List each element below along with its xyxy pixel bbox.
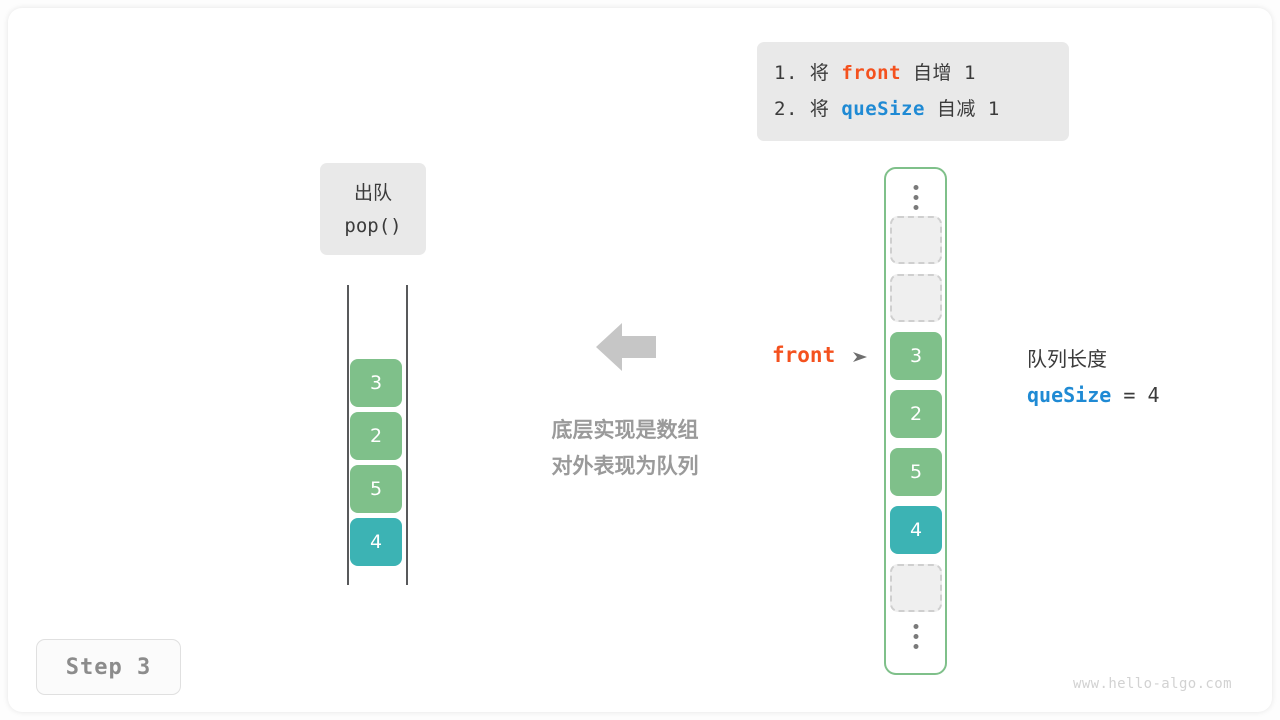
quesize-annotation: 队列长度 queSize = 4	[1027, 341, 1159, 413]
operation-label-box: 出队 pop()	[320, 163, 426, 255]
array-cell-2: 3	[890, 332, 942, 380]
watermark: www.hello-algo.com	[1073, 676, 1232, 692]
instruction-2-text-after: 自减	[937, 98, 976, 120]
queue-cell-2: 5	[350, 465, 402, 513]
front-pointer-arrow-icon	[853, 351, 867, 363]
queue-cell-0-value: 3	[370, 372, 382, 394]
queue-rail-right	[406, 285, 408, 585]
queue-cell-2-value: 5	[370, 478, 382, 500]
transform-arrow-icon	[596, 322, 656, 372]
instruction-2-value: 1	[988, 98, 1000, 120]
array-cell-3-value: 2	[910, 403, 922, 425]
caption-line-1: 底层实现是数组	[529, 412, 721, 448]
quesize-expression: queSize = 4	[1027, 377, 1159, 413]
queue-cell-0: 3	[350, 359, 402, 407]
queue-cell-1-value: 2	[370, 425, 382, 447]
instruction-1-number: 1.	[774, 62, 798, 84]
instruction-callout: 1. 将 front 自增 1 2. 将 queSize 自减 1	[757, 42, 1069, 141]
array-bottom-ellipsis-icon	[913, 624, 918, 649]
array-cell-4: 5	[890, 448, 942, 496]
array-cell-2-value: 3	[910, 345, 922, 367]
front-pointer-label: front	[772, 343, 835, 367]
step-badge: Step 3	[36, 639, 181, 695]
queue-rail-left	[347, 285, 349, 585]
array-container: 3 2 5 4	[884, 167, 947, 675]
instruction-1-code: front	[841, 62, 901, 84]
figure-caption: 底层实现是数组 对外表现为队列	[529, 412, 721, 484]
instruction-2-number: 2.	[774, 98, 798, 120]
array-cell-4-value: 5	[910, 461, 922, 483]
queue-cell-1: 2	[350, 412, 402, 460]
array-top-ellipsis-icon	[913, 185, 918, 210]
queue-cell-3: 4	[350, 518, 402, 566]
operation-method: pop()	[320, 210, 426, 243]
instruction-1-text-after: 自增	[913, 62, 952, 84]
array-cell-5-value: 4	[910, 519, 922, 541]
queue-cell-3-value: 4	[370, 531, 382, 553]
array-cell-1	[890, 274, 942, 322]
quesize-equals: =	[1123, 383, 1135, 407]
array-cell-5: 4	[890, 506, 942, 554]
instruction-2-text-before: 将	[810, 98, 830, 120]
instruction-line-1: 1. 将 front 自增 1	[774, 55, 1069, 91]
caption-line-2: 对外表现为队列	[529, 448, 721, 484]
figure-canvas: 1. 将 front 自增 1 2. 将 queSize 自减 1 出队 pop…	[0, 0, 1280, 720]
array-cell-3: 2	[890, 390, 942, 438]
operation-title: 出队	[320, 177, 426, 210]
instruction-1-value: 1	[964, 62, 976, 84]
array-cell-6	[890, 564, 942, 612]
quesize-title: 队列长度	[1027, 341, 1159, 377]
array-cell-0	[890, 216, 942, 264]
instruction-2-code: queSize	[841, 98, 925, 120]
quesize-variable: queSize	[1027, 383, 1111, 407]
instruction-line-2: 2. 将 queSize 自减 1	[774, 91, 1069, 127]
quesize-value: 4	[1147, 383, 1159, 407]
instruction-1-text-before: 将	[810, 62, 830, 84]
